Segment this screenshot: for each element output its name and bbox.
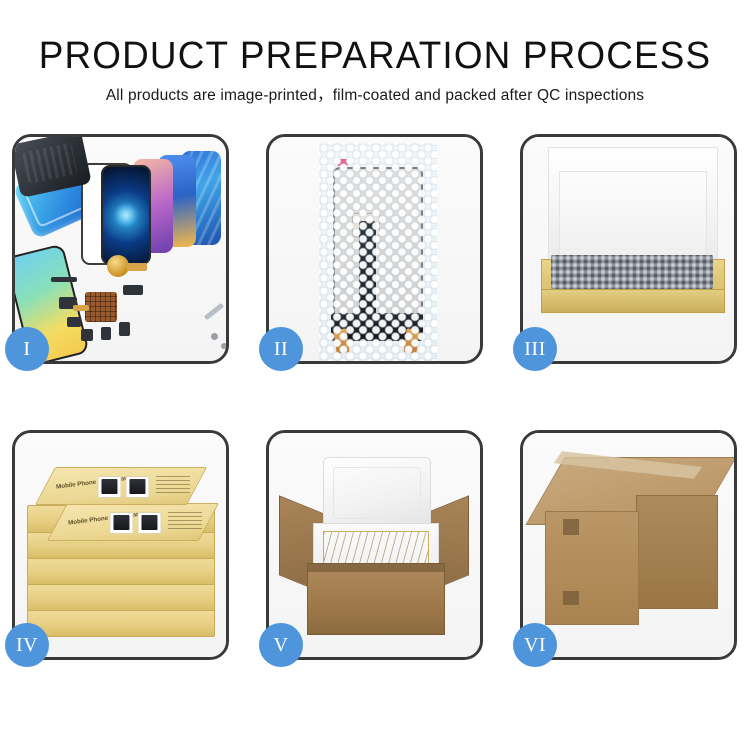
part-connector-4 bbox=[101, 327, 111, 340]
step-badge-4: IV bbox=[5, 623, 49, 667]
carton-body bbox=[307, 563, 445, 635]
bubble-texture-overlay bbox=[319, 143, 437, 361]
top-box-lid-upper: Mobile Phone Spare Parts bbox=[35, 467, 207, 505]
screw-icon-2 bbox=[221, 343, 226, 349]
stacked-box-3 bbox=[27, 557, 215, 585]
box-spec-lines-upper bbox=[156, 476, 190, 496]
page-subtitle: All products are image-printed，film-coat… bbox=[0, 85, 750, 107]
process-step-panel-4: Mobile Phone Spare Parts Mobile Phone Sp… bbox=[12, 430, 229, 660]
bubble-foam-padding bbox=[551, 255, 713, 289]
styrofoam-lid bbox=[323, 457, 431, 529]
panel-6-image bbox=[523, 433, 734, 657]
speaker-coin-icon bbox=[107, 255, 129, 277]
panel-1-image bbox=[15, 137, 226, 361]
flex-cable-1 bbox=[127, 263, 147, 271]
part-connector-5 bbox=[119, 322, 130, 336]
part-strip-1 bbox=[51, 277, 77, 282]
bubble-wrap-bag bbox=[319, 143, 437, 361]
box-art-screen-3 bbox=[109, 512, 133, 534]
yellow-box-stack: Mobile Phone Spare Parts Mobile Phone Sp… bbox=[23, 459, 223, 645]
top-box-lid-lower: Mobile Phone Spare Parts bbox=[47, 503, 219, 541]
step-badge-1: I bbox=[5, 327, 49, 371]
panel-4-image: Mobile Phone Spare Parts Mobile Phone Sp… bbox=[15, 433, 226, 657]
chip-grid-icon bbox=[85, 292, 117, 322]
screw-icon-1 bbox=[211, 333, 218, 340]
white-box-lid-inner bbox=[559, 171, 707, 259]
box-art-screen-2 bbox=[125, 476, 149, 498]
part-connector-6 bbox=[123, 285, 143, 295]
process-step-panel-5: V bbox=[266, 430, 483, 660]
carton-seam-top bbox=[563, 519, 579, 535]
process-step-panel-6: VI bbox=[520, 430, 737, 660]
carton-front-face bbox=[545, 511, 639, 625]
part-connector-3 bbox=[81, 329, 93, 341]
process-step-panel-3: III bbox=[520, 134, 737, 364]
box-art-screen-4 bbox=[137, 512, 161, 534]
step-badge-5: V bbox=[259, 623, 303, 667]
panel-3-image bbox=[523, 137, 734, 361]
box-spec-lines-lower bbox=[168, 512, 202, 532]
carton-seam-bottom bbox=[563, 591, 579, 605]
box-art-screen-1 bbox=[97, 476, 121, 498]
process-step-grid: I II III bbox=[12, 134, 738, 660]
screwdriver-icon bbox=[204, 303, 224, 320]
stacked-box-4 bbox=[27, 583, 215, 611]
step-badge-2: II bbox=[259, 327, 303, 371]
yellow-box-front-face bbox=[541, 289, 725, 313]
stacked-box-5 bbox=[27, 609, 215, 637]
step-badge-6: VI bbox=[513, 623, 557, 667]
part-connector-2 bbox=[67, 317, 81, 327]
page-title: PRODUCT PREPARATION PROCESS bbox=[11, 34, 739, 78]
process-step-panel-2: II bbox=[266, 134, 483, 364]
process-step-panel-1: I bbox=[12, 134, 229, 364]
flex-cable-2 bbox=[73, 305, 89, 311]
page-header: PRODUCT PREPARATION PROCESS All products… bbox=[0, 0, 750, 107]
carton-side-face bbox=[636, 495, 718, 609]
panel-2-image bbox=[269, 137, 480, 361]
phone-screen-2 bbox=[101, 165, 151, 265]
step-badge-3: III bbox=[513, 327, 557, 371]
panel-5-image bbox=[269, 433, 480, 657]
